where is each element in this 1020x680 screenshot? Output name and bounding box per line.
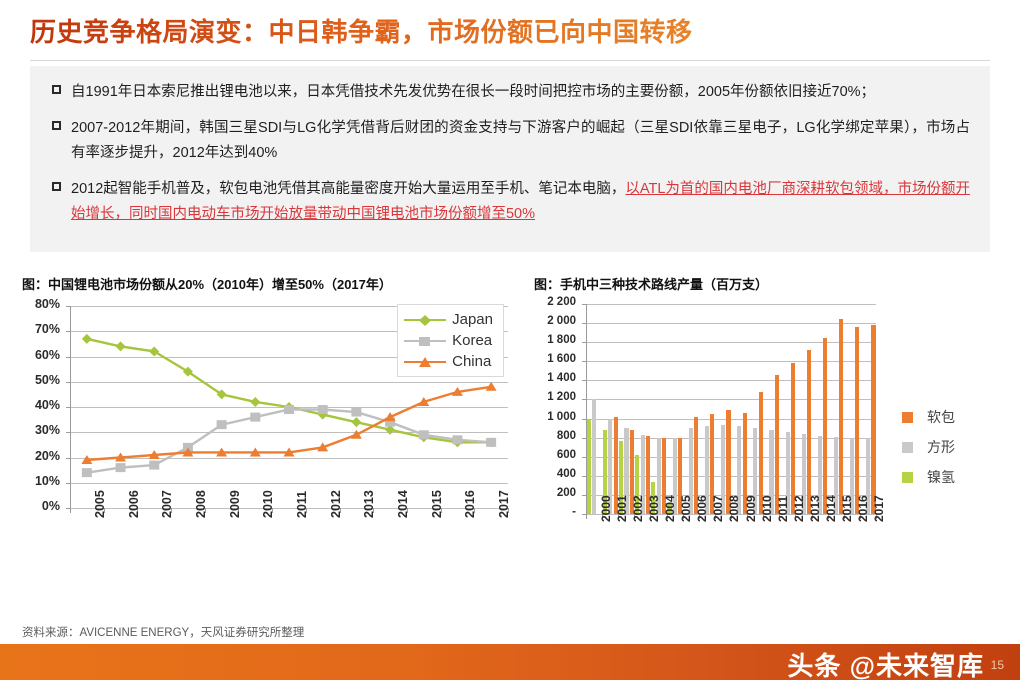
legend-marker-icon: [418, 314, 432, 327]
bullet-square-icon: [52, 182, 61, 191]
slide-root: 历史竞争格局演变：中日韩争霸，市场份额已向中国转移 自1991年日本索尼推出锂电…: [0, 0, 1020, 680]
data-point-marker: [351, 417, 361, 427]
y-axis-tick-label: 2 200: [534, 296, 576, 308]
gridline: [586, 323, 876, 324]
bar-2000-方形: [592, 399, 596, 514]
data-point-marker: [318, 405, 328, 414]
y-axis-tick-label: 1 200: [534, 391, 576, 403]
legend-item-china: China: [404, 351, 493, 372]
legend-swatch: [404, 313, 446, 327]
bar-2017-软包: [871, 325, 875, 514]
bullet-item: 2012起智能手机普及，软包电池凭借其高能量密度开始大量运用至手机、笔记本电脑，…: [52, 177, 970, 227]
data-point-marker: [149, 461, 159, 470]
right-chart-legend: 软包方形镍氢: [902, 402, 955, 492]
gridline: [586, 380, 876, 381]
legend-swatch-镍氢: [902, 472, 913, 483]
x-axis-tick-label: 2008: [727, 495, 741, 522]
data-point-marker: [116, 341, 126, 351]
bar-2013-软包: [807, 350, 811, 514]
y-axis-tick-label: -: [534, 506, 576, 518]
x-axis-tick-label: 2002: [631, 495, 645, 522]
market-share-line-chart: 0%10%20%30%40%50%60%70%80%20052006200720…: [22, 296, 512, 586]
x-axis-tick-label: 2017: [872, 495, 886, 522]
data-point-marker: [419, 430, 429, 439]
x-axis-tick-label: 2009: [744, 495, 758, 522]
bar-2016-软包: [855, 327, 859, 514]
bar-2011-软包: [775, 375, 779, 514]
page-title: 历史竞争格局演变：中日韩争霸，市场份额已向中国转移: [30, 12, 990, 58]
x-axis-tick-label: 2007: [711, 495, 725, 522]
bullet-item: 2007-2012年期间，韩国三星SDI与LG化学凭借背后财团的资金支持与下游客…: [52, 116, 970, 166]
bar-2014-软包: [823, 338, 827, 514]
bullet-square-icon: [52, 85, 61, 94]
legend-swatch-软包: [902, 412, 913, 423]
gridline: [586, 361, 876, 362]
bar-2012-软包: [791, 363, 795, 514]
watermark: 头条 @未来智库: [787, 646, 984, 680]
bullet-square-icon: [52, 121, 61, 130]
data-point-marker: [149, 346, 159, 356]
gridline: [586, 342, 876, 343]
source-note: 资料来源：AVICENNE ENERGY，天风证券研究所整理: [22, 624, 304, 640]
legend-marker-icon: [418, 356, 432, 369]
x-axis-tick-label: 2001: [615, 495, 629, 522]
bullet-text: 2007-2012年期间，韩国三星SDI与LG化学凭借背后财团的资金支持与下游客…: [71, 116, 970, 166]
gridline: [586, 419, 876, 420]
left-chart-title: 图：中国锂电池市场份额从20%（2010年）增至50%（2017年）: [22, 274, 392, 293]
y-axis-tick-label: 1 400: [534, 372, 576, 384]
phone-battery-bar-chart: -2004006008001 0001 2001 4001 6001 8002 …: [534, 296, 1004, 586]
legend-label: 方形: [927, 437, 955, 457]
legend-item-镍氢: 镍氢: [902, 462, 955, 492]
data-point-marker: [217, 420, 227, 429]
legend-swatch: [404, 355, 446, 369]
x-axis-tickmark: [586, 514, 587, 519]
summary-box: 自1991年日本索尼推出锂电池以来，日本凭借技术先发优势在很长一段时间把控市场的…: [30, 66, 990, 252]
y-axis-tick-label: 400: [534, 468, 576, 480]
x-axis-tick-label: 2005: [679, 495, 693, 522]
left-chart-legend: JapanKoreaChina: [397, 304, 504, 377]
gridline: [586, 399, 876, 400]
data-point-marker: [486, 438, 496, 447]
x-axis-tick-label: 2011: [776, 496, 790, 522]
bullet-text: 自1991年日本索尼推出锂电池以来，日本凭借技术先发优势在很长一段时间把控市场的…: [71, 80, 875, 105]
bar-2015-软包: [839, 319, 843, 514]
legend-marker-icon: [418, 335, 432, 348]
x-axis-tick-label: 2004: [663, 495, 677, 522]
data-point-marker: [82, 334, 92, 344]
line-series-korea: [87, 410, 491, 473]
data-point-marker: [250, 397, 260, 407]
x-axis-tick-label: 2013: [808, 495, 822, 522]
x-axis-tick-label: 2014: [824, 495, 838, 522]
legend-label: 软包: [927, 407, 955, 427]
x-axis-tick-label: 2016: [856, 495, 870, 522]
data-point-marker: [351, 430, 362, 439]
data-point-marker: [351, 408, 361, 417]
right-chart-title: 图：手机中三种技术路线产量（百万支）: [534, 274, 768, 293]
data-point-marker: [250, 413, 260, 422]
x-axis-tick-label: 2006: [695, 495, 709, 522]
legend-label: 镍氢: [927, 467, 955, 487]
legend-item-korea: Korea: [404, 330, 493, 351]
legend-item-方形: 方形: [902, 432, 955, 462]
x-axis-tick-label: 2000: [599, 495, 613, 522]
x-axis-tick-label: 2003: [647, 495, 661, 522]
page-number: 15: [991, 658, 1004, 672]
legend-label: Korea: [452, 332, 492, 349]
data-point-marker: [116, 463, 126, 472]
legend-swatch: [404, 334, 446, 348]
bullet-item: 自1991年日本索尼推出锂电池以来，日本凭借技术先发优势在很长一段时间把控市场的…: [52, 80, 970, 105]
legend-swatch-方形: [902, 442, 913, 453]
y-axis-tick-label: 600: [534, 449, 576, 461]
page-title-text: 历史竞争格局演变：中日韩争霸，市场份额已向中国转移: [30, 12, 990, 52]
legend-label: China: [452, 353, 491, 370]
x-axis-tick-label: 2012: [792, 495, 806, 522]
legend-item-japan: Japan: [404, 309, 493, 330]
legend-label: Japan: [452, 311, 493, 328]
legend-item-软包: 软包: [902, 402, 955, 432]
title-divider: [30, 60, 990, 61]
bar-2000-镍氢: [587, 419, 591, 514]
gridline: [586, 304, 876, 305]
y-axis-tick-label: 1 000: [534, 411, 576, 423]
y-axis-tick-label: 1 800: [534, 334, 576, 346]
data-point-marker: [82, 468, 92, 477]
x-axis-tick-label: 2015: [840, 495, 854, 522]
y-axis-tick-label: 1 600: [534, 353, 576, 365]
data-point-marker: [452, 435, 462, 444]
x-axis-tick-label: 2010: [760, 495, 774, 522]
data-point-marker: [284, 405, 294, 414]
y-axis-tick-label: 200: [534, 487, 576, 499]
y-axis-tick-label: 800: [534, 430, 576, 442]
bullet-text: 2012起智能手机普及，软包电池凭借其高能量密度开始大量运用至手机、笔记本电脑，…: [71, 177, 970, 227]
y-axis-tick-label: 2 000: [534, 315, 576, 327]
